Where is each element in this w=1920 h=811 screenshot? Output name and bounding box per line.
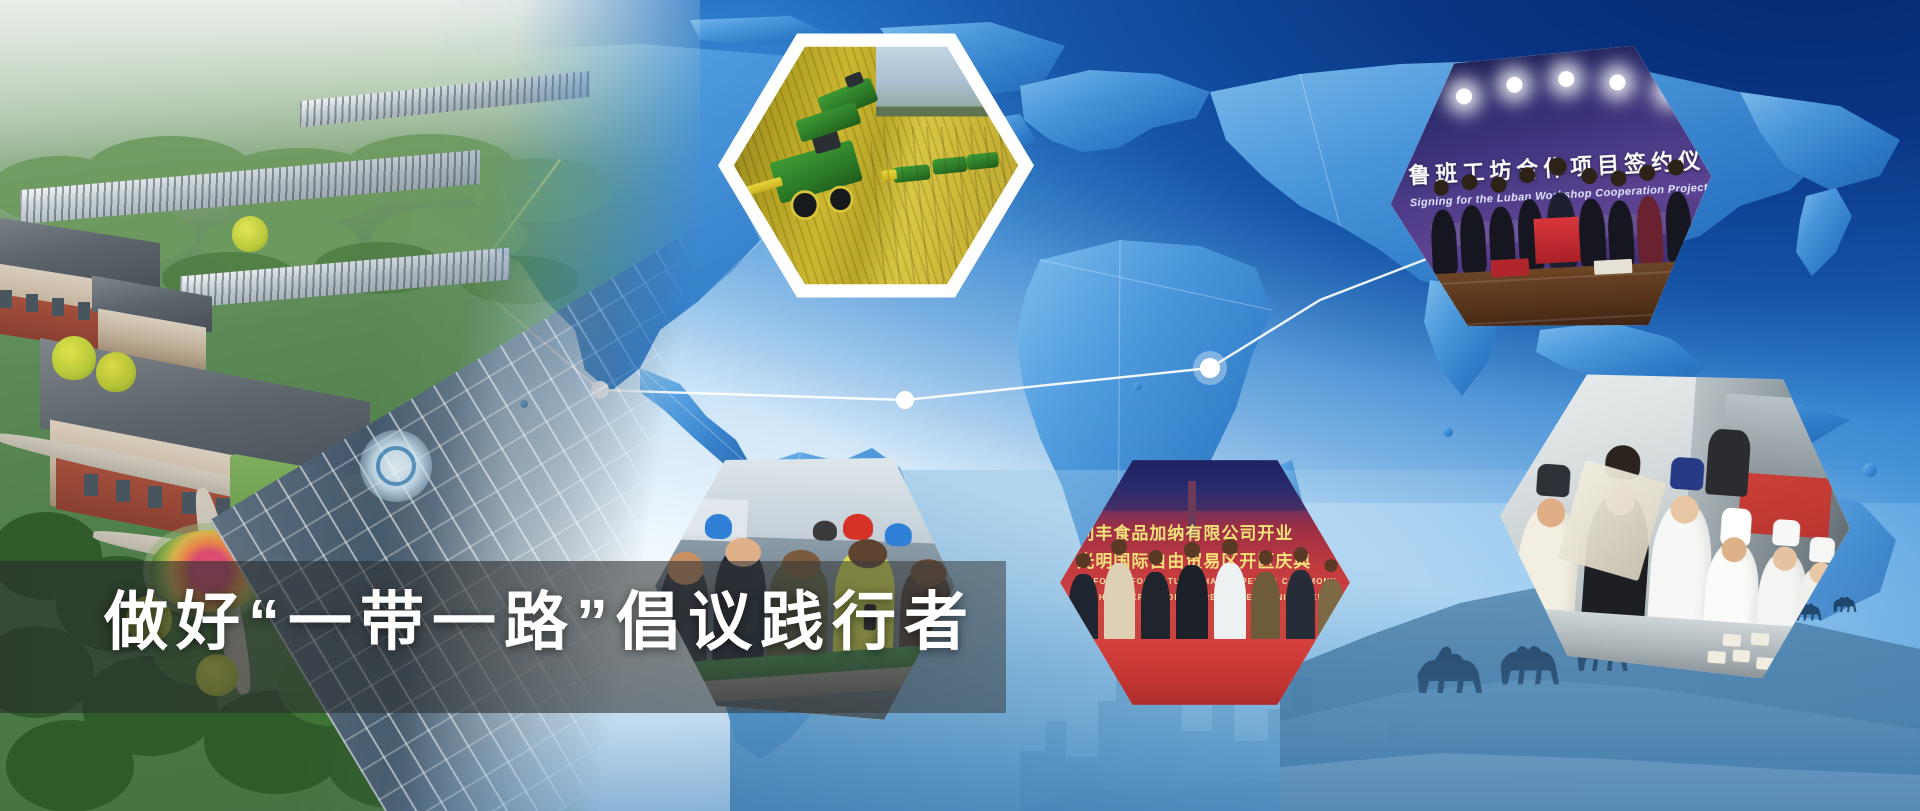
campus-tree (52, 336, 96, 380)
banner-stage: 鲁班工坊合作项目签约仪式 Signing for the Luban Works… (0, 0, 1920, 811)
campus-tree (232, 216, 268, 252)
page-title: 做好“一带一路”倡议践行者 (104, 576, 976, 669)
hard-hat-blue (705, 514, 733, 539)
ceremony-guests (1060, 532, 1350, 644)
hard-hat-red (843, 514, 874, 541)
campus-tree (96, 352, 136, 392)
roof-emblem-icon (360, 430, 432, 502)
observer (1705, 428, 1752, 497)
head (813, 521, 838, 541)
hard-hat-blue (884, 523, 912, 547)
